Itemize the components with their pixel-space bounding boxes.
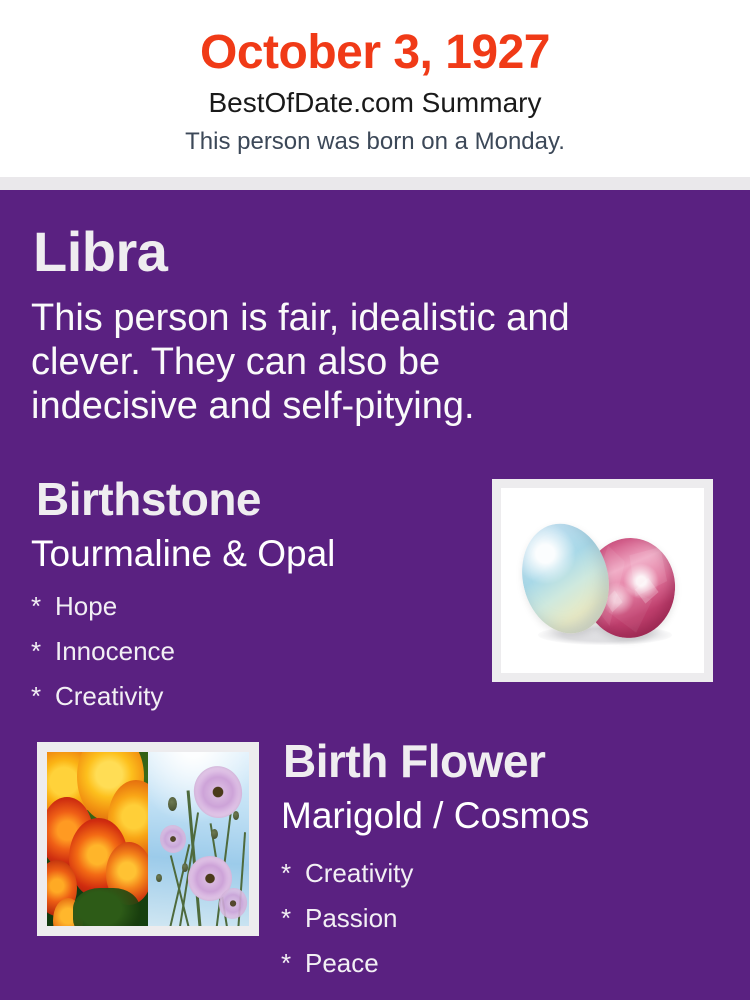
zodiac-sign-heading: Libra bbox=[33, 222, 167, 282]
birthstone-heading: Birthstone bbox=[36, 475, 261, 525]
site-summary-label: BestOfDate.com Summary bbox=[0, 87, 750, 119]
bullet-icon: * bbox=[281, 851, 305, 896]
birthstone-trait-label: Innocence bbox=[55, 636, 175, 666]
bullet-icon: * bbox=[281, 941, 305, 986]
birthstone-trait-label: Hope bbox=[55, 591, 117, 621]
list-item: *Peace bbox=[281, 941, 413, 986]
cosmos-photo-icon bbox=[148, 752, 249, 926]
header-section: October 3, 1927 BestOfDate.com Summary T… bbox=[0, 0, 750, 177]
zodiac-description: This person is fair, idealistic and clev… bbox=[31, 296, 611, 428]
birth-flower-image bbox=[47, 752, 249, 926]
bullet-icon: * bbox=[31, 629, 55, 674]
infographic-page: October 3, 1927 BestOfDate.com Summary T… bbox=[0, 0, 750, 1000]
header-divider bbox=[0, 177, 750, 190]
birthstone-trait-list: *Hope *Innocence *Creativity bbox=[31, 584, 175, 719]
bullet-icon: * bbox=[31, 584, 55, 629]
bullet-icon: * bbox=[281, 896, 305, 941]
birthstone-image-frame bbox=[492, 479, 713, 682]
list-item: *Innocence bbox=[31, 629, 175, 674]
birth-flower-heading: Birth Flower bbox=[283, 737, 545, 787]
marigold-photo-icon bbox=[47, 752, 148, 926]
birth-flower-image-frame bbox=[37, 742, 259, 936]
list-item: *Passion bbox=[281, 896, 413, 941]
list-item: *Hope bbox=[31, 584, 175, 629]
birth-flower-trait-label: Creativity bbox=[305, 858, 413, 888]
birth-flower-trait-label: Passion bbox=[305, 903, 398, 933]
list-item: *Creativity bbox=[281, 851, 413, 896]
birth-flower-trait-label: Peace bbox=[305, 948, 379, 978]
birthstone-name: Tourmaline & Opal bbox=[31, 534, 335, 575]
page-title: October 3, 1927 bbox=[0, 28, 750, 78]
list-item: *Creativity bbox=[31, 674, 175, 719]
birth-flower-trait-list: *Creativity *Passion *Peace bbox=[281, 851, 413, 986]
birthstone-image bbox=[501, 488, 704, 673]
born-day-text: This person was born on a Monday. bbox=[0, 128, 750, 156]
bullet-icon: * bbox=[31, 674, 55, 719]
birthstone-trait-label: Creativity bbox=[55, 681, 163, 711]
birth-flower-name: Marigold / Cosmos bbox=[281, 796, 589, 837]
